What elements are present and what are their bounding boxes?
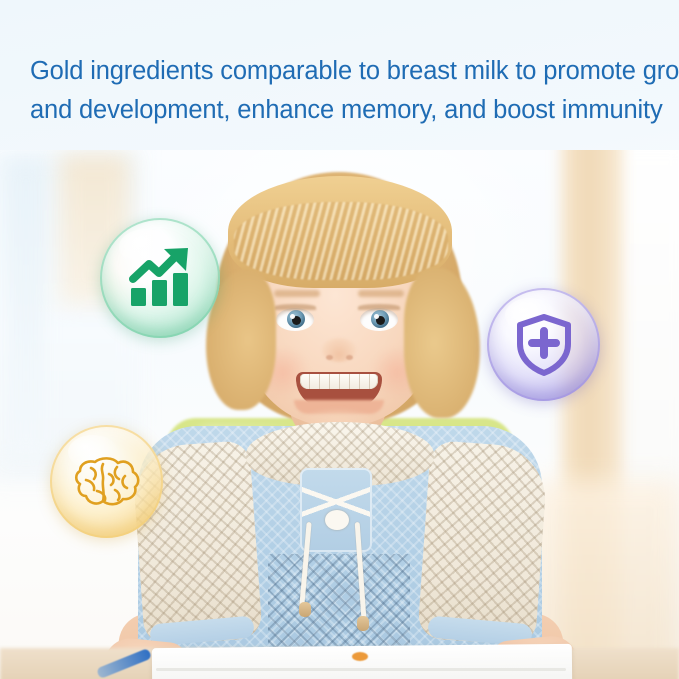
sleeve-right-texture: [417, 440, 549, 646]
eye-glint-left: [290, 314, 295, 319]
eyelash-right: [358, 304, 400, 310]
brain-icon: [73, 454, 141, 510]
nostril-left: [326, 355, 333, 360]
growth-chart-icon: [128, 247, 192, 309]
drawstring-bead-left: [299, 602, 311, 617]
eyelash-left: [274, 304, 316, 310]
eyebrow-right: [358, 290, 404, 297]
hair-strands: [234, 202, 448, 280]
iris-right: [371, 310, 389, 328]
eyebrow-left: [274, 290, 320, 297]
benefit-bubble-immunity[interactable]: [487, 288, 600, 401]
eye-glint-right: [374, 314, 379, 319]
orange-marker-cap: [352, 652, 368, 661]
hair-curl-right: [404, 268, 480, 418]
benefit-bubble-growth[interactable]: [100, 218, 220, 338]
iris-left: [287, 310, 305, 328]
drawing-paper: [152, 644, 572, 679]
benefit-bubble-memory[interactable]: [50, 425, 163, 538]
drawstring-bead-right: [357, 616, 369, 631]
eye-right: [360, 308, 398, 331]
child-figure: [0, 150, 679, 679]
eye-left: [276, 308, 314, 331]
headline-line-2: and development, enhance memory, and boo…: [30, 91, 660, 130]
headline-line-1: Gold ingredients comparable to breast mi…: [30, 52, 660, 91]
shield-plus-icon: [516, 314, 572, 376]
paper-edge-line: [156, 668, 566, 671]
drawstring-knot: [325, 510, 349, 530]
teeth: [300, 374, 378, 389]
product-benefit-banner: Gold ingredients comparable to breast mi…: [0, 0, 679, 679]
nostril-right: [346, 355, 353, 360]
sleeve-right: [417, 440, 549, 646]
lifestyle-photo: [0, 150, 679, 679]
page-title: Gold ingredients comparable to breast mi…: [30, 52, 660, 130]
